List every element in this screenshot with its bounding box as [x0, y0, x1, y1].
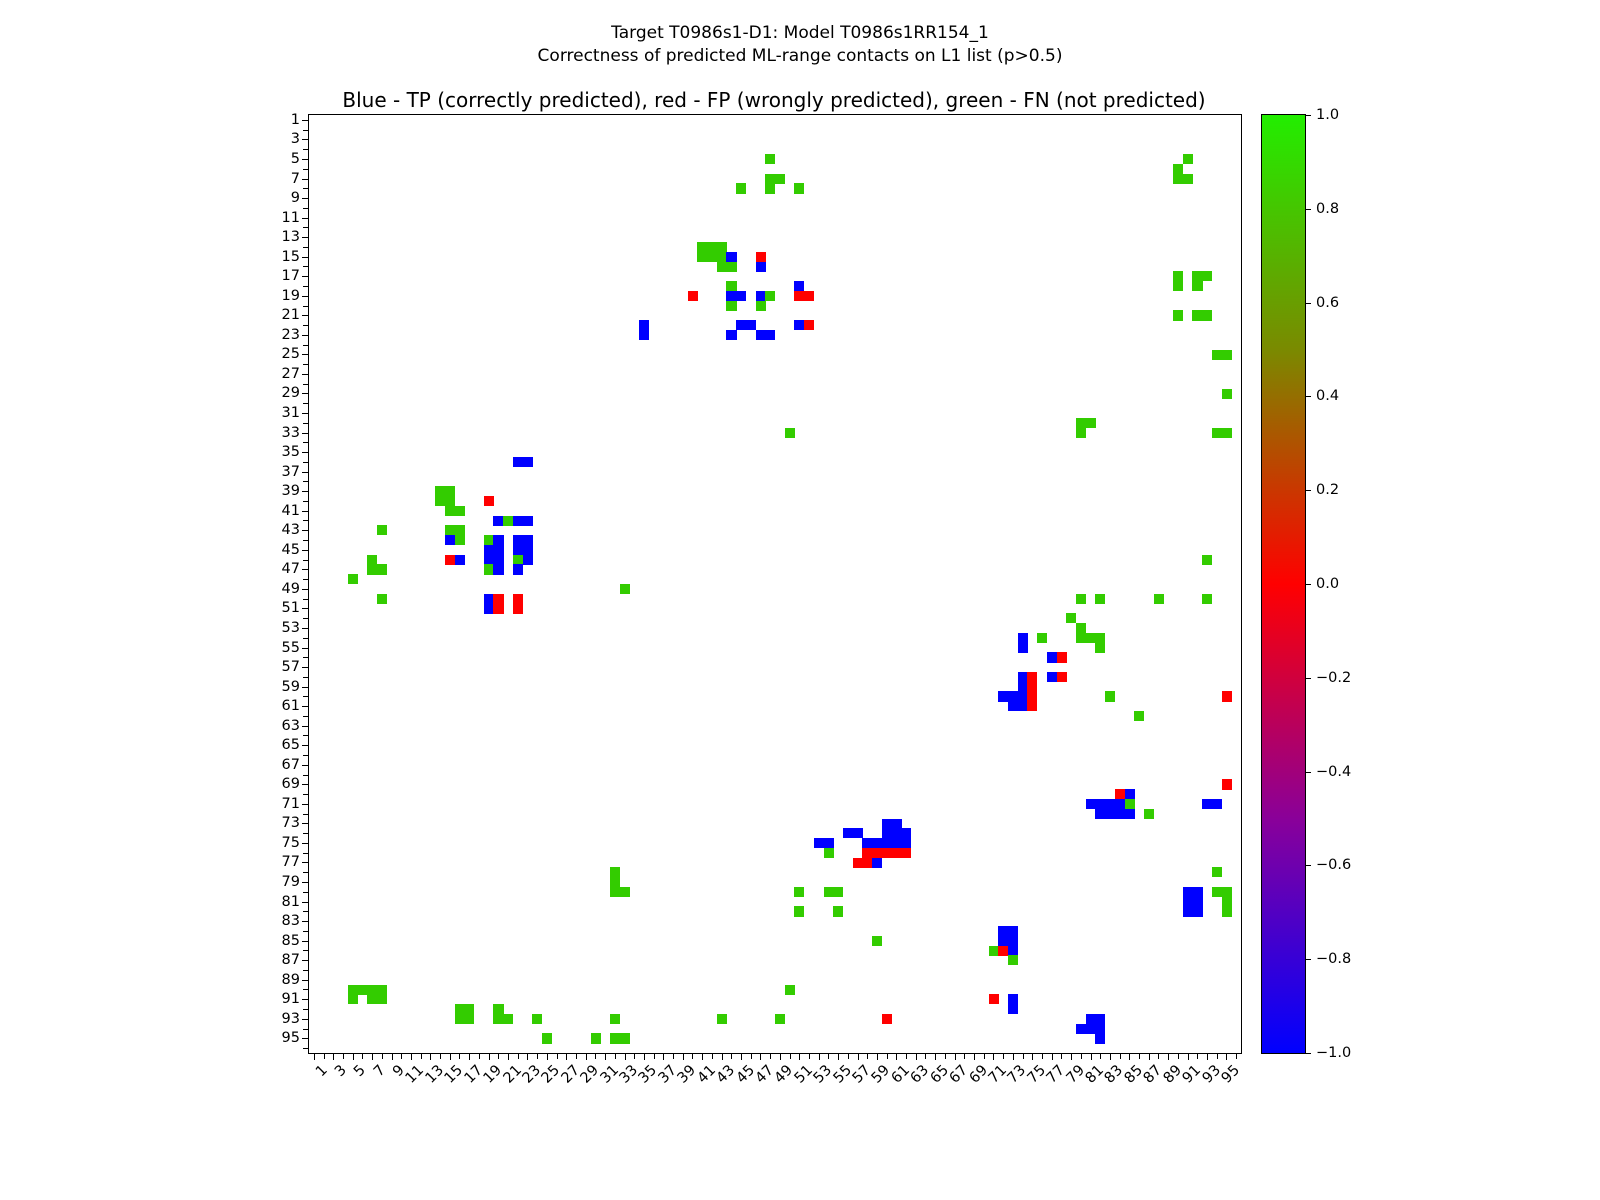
x-axis-tick — [1013, 1053, 1014, 1060]
x-axis-tick — [955, 1053, 956, 1060]
x-axis-tick-label: 5 — [352, 1063, 369, 1080]
contact-cell — [493, 1014, 503, 1024]
contact-cell — [756, 252, 766, 262]
contact-cell — [1115, 789, 1125, 799]
contact-cell — [455, 1014, 465, 1024]
contact-cell — [717, 242, 727, 252]
contact-cell — [726, 330, 736, 340]
contact-cell — [493, 555, 503, 565]
contact-cell — [882, 848, 892, 858]
contact-cell — [620, 584, 630, 594]
y-axis-tick — [302, 550, 309, 551]
y-axis-tick — [303, 872, 309, 873]
x-axis-tick — [1081, 1053, 1082, 1059]
x-axis-tick — [974, 1053, 975, 1060]
contact-cell — [1047, 652, 1057, 662]
contact-cell — [639, 320, 649, 330]
x-axis-tick — [925, 1053, 926, 1059]
x-axis-tick — [489, 1053, 490, 1060]
x-axis-tick — [566, 1053, 567, 1060]
contact-cell — [726, 291, 736, 301]
contact-map-axes: 1357911131517192123252729313335373941434… — [308, 114, 1242, 1054]
y-axis-tick-label: 31 — [282, 406, 300, 421]
contact-cell — [1222, 906, 1232, 916]
x-axis-tick — [459, 1053, 460, 1059]
y-axis-tick-label: 73 — [282, 816, 300, 831]
contact-cell — [1076, 428, 1086, 438]
y-axis-tick — [303, 853, 309, 854]
contact-cell — [532, 1014, 542, 1024]
x-axis-tick — [634, 1053, 635, 1059]
y-axis-tick-label: 51 — [282, 601, 300, 616]
contact-cell — [1018, 701, 1028, 711]
contact-cell — [736, 183, 746, 193]
y-axis-tick — [303, 794, 309, 795]
contact-cell — [1115, 799, 1125, 809]
x-axis-tick — [722, 1053, 723, 1060]
colorbar-tick-label: 0.2 — [1316, 483, 1339, 498]
y-axis-tick — [303, 1048, 309, 1049]
y-axis-tick — [302, 589, 309, 590]
contact-cell — [523, 555, 533, 565]
y-axis-tick — [302, 139, 309, 140]
contact-cell — [756, 330, 766, 340]
contact-cell — [1125, 799, 1135, 809]
y-axis-tick — [303, 286, 309, 287]
contact-cell — [1076, 594, 1086, 604]
contact-cell — [523, 545, 533, 555]
contact-cell — [814, 838, 824, 848]
contact-cell — [513, 604, 523, 614]
x-axis-tick — [450, 1053, 451, 1060]
y-axis-tick-label: 15 — [282, 249, 300, 264]
y-axis-tick — [302, 257, 309, 258]
contact-cell — [445, 555, 455, 565]
contact-cell — [765, 330, 775, 340]
y-axis-tick-label: 13 — [282, 230, 300, 245]
contact-map-cells — [309, 115, 1241, 1053]
y-axis-tick-label: 29 — [282, 386, 300, 401]
x-axis-tick — [314, 1053, 315, 1060]
x-axis-tick — [1129, 1053, 1130, 1060]
contact-cell — [794, 887, 804, 897]
contact-cell — [862, 838, 872, 848]
contact-cell — [1192, 887, 1202, 897]
contact-cell — [707, 242, 717, 252]
y-axis-tick — [302, 569, 309, 570]
x-axis-tick — [1207, 1053, 1208, 1060]
x-axis-tick — [887, 1053, 888, 1059]
contact-cell — [1222, 887, 1232, 897]
y-axis-tick-label: 7 — [291, 171, 300, 186]
contact-cell — [824, 838, 834, 848]
y-axis-tick — [302, 452, 309, 453]
x-axis-tick-label: 1 — [313, 1063, 330, 1080]
contact-cell — [726, 301, 736, 311]
y-axis-tick-label: 75 — [282, 836, 300, 851]
x-axis-tick — [1052, 1053, 1053, 1060]
contact-cell — [610, 867, 620, 877]
contact-cell — [1047, 672, 1057, 682]
contact-cell — [1222, 350, 1232, 360]
contact-cell — [872, 848, 882, 858]
contact-cell — [892, 828, 902, 838]
contact-cell — [503, 1014, 513, 1024]
x-axis-tick — [343, 1053, 344, 1059]
x-axis-tick — [518, 1053, 519, 1059]
y-axis-tick-label: 57 — [282, 660, 300, 675]
contact-cell — [882, 838, 892, 848]
contact-cell — [1076, 1024, 1086, 1034]
contact-cell — [1183, 887, 1193, 897]
y-axis-tick — [303, 481, 309, 482]
contact-cell — [503, 516, 513, 526]
colorbar-tick — [1305, 865, 1311, 866]
contact-cell — [892, 819, 902, 829]
contact-cell — [484, 594, 494, 604]
y-axis-tick — [303, 208, 309, 209]
y-axis-tick — [302, 179, 309, 180]
y-axis-tick-label: 69 — [282, 777, 300, 792]
y-axis-tick — [302, 296, 309, 297]
contact-cell — [775, 174, 785, 184]
contact-cell — [610, 887, 620, 897]
x-axis-tick — [858, 1053, 859, 1060]
contact-cell — [1222, 779, 1232, 789]
x-axis-tick — [984, 1053, 985, 1059]
contact-cell — [1202, 555, 1212, 565]
x-axis-tick — [469, 1053, 470, 1060]
x-axis-tick — [1120, 1053, 1121, 1059]
contact-cell — [794, 320, 804, 330]
contact-cell — [717, 252, 727, 262]
colorbar-tick — [1305, 959, 1311, 960]
contact-cell — [746, 320, 756, 330]
contact-cell — [1202, 799, 1212, 809]
chart-legend-annotation: Blue - TP (correctly predicted), red - F… — [308, 88, 1240, 112]
y-axis-tick — [303, 814, 309, 815]
x-axis-tick — [479, 1053, 480, 1059]
contact-cell — [1192, 897, 1202, 907]
contact-cell — [1095, 809, 1105, 819]
y-axis-tick-label: 83 — [282, 914, 300, 929]
contact-cell — [892, 848, 902, 858]
contact-cell — [1192, 281, 1202, 291]
y-axis-tick — [302, 159, 309, 160]
x-axis-tick — [421, 1053, 422, 1059]
contact-cell — [998, 691, 1008, 701]
y-axis-tick-label: 27 — [282, 367, 300, 382]
colorbar-tick-label: 0.0 — [1316, 577, 1339, 592]
contact-cell — [513, 545, 523, 555]
y-axis-tick — [303, 247, 309, 248]
contact-cell — [1086, 1024, 1096, 1034]
y-axis-tick — [303, 540, 309, 541]
x-axis-tick — [430, 1053, 431, 1060]
contact-cell — [717, 1014, 727, 1024]
contact-cell — [493, 604, 503, 614]
x-axis-tick — [498, 1053, 499, 1059]
contact-cell — [455, 555, 465, 565]
y-axis-tick-label: 11 — [282, 210, 300, 225]
y-axis-tick — [302, 491, 309, 492]
y-axis-tick — [302, 706, 309, 707]
contact-cell — [610, 877, 620, 887]
x-axis-tick — [353, 1053, 354, 1060]
contact-cell — [853, 858, 863, 868]
y-axis-tick-label: 87 — [282, 953, 300, 968]
contact-cell — [1154, 594, 1164, 604]
y-axis-tick — [303, 501, 309, 502]
contact-cell — [1095, 643, 1105, 653]
contact-cell — [513, 564, 523, 574]
contact-cell — [882, 819, 892, 829]
y-axis-tick — [303, 560, 309, 561]
y-axis-tick — [302, 745, 309, 746]
x-axis-tick — [586, 1053, 587, 1060]
contact-cell — [348, 574, 358, 584]
contact-cell — [1086, 418, 1096, 428]
contact-cell — [794, 281, 804, 291]
contact-cell — [445, 496, 455, 506]
contact-cell — [493, 564, 503, 574]
contact-cell — [1212, 887, 1222, 897]
y-axis-tick — [302, 237, 309, 238]
y-axis-tick — [302, 120, 309, 121]
contact-cell — [1086, 633, 1096, 643]
y-axis-tick-label: 89 — [282, 972, 300, 987]
colorbar-tick — [1305, 678, 1311, 679]
contact-cell — [1008, 926, 1018, 936]
y-axis-tick — [302, 393, 309, 394]
contact-cell — [1095, 1014, 1105, 1024]
x-axis-tick — [896, 1053, 897, 1060]
y-axis-tick — [302, 804, 309, 805]
colorbar-tick-label: −0.6 — [1316, 858, 1351, 873]
colorbar-tick — [1305, 303, 1311, 304]
contact-cell — [1202, 310, 1212, 320]
y-axis-tick-label: 37 — [282, 464, 300, 479]
x-axis-tick — [1188, 1053, 1189, 1060]
y-axis-tick-label: 55 — [282, 640, 300, 655]
contact-cell — [1183, 174, 1193, 184]
x-axis-tick — [663, 1053, 664, 1060]
contact-cell — [872, 838, 882, 848]
chart-subtitle: Correctness of predicted ML-range contac… — [0, 45, 1600, 68]
contact-cell — [717, 262, 727, 272]
contact-cell — [348, 994, 358, 1004]
contact-cell — [998, 946, 1008, 956]
colorbar: 1.00.80.60.40.20.0−0.2−0.4−0.6−0.8−1.0 — [1261, 114, 1306, 1054]
contact-cell — [1066, 613, 1076, 623]
y-axis-tick — [303, 677, 309, 678]
x-axis-tick — [916, 1053, 917, 1060]
y-axis-tick — [303, 833, 309, 834]
contact-cell — [833, 887, 843, 897]
x-axis-tick — [993, 1053, 994, 1060]
contact-cell — [882, 828, 892, 838]
contact-cell — [843, 828, 853, 838]
x-axis-tick — [819, 1053, 820, 1060]
contact-cell — [377, 985, 387, 995]
x-axis-tick — [557, 1053, 558, 1059]
contact-cell — [1173, 271, 1183, 281]
x-axis-tick — [712, 1053, 713, 1059]
contact-cell — [901, 848, 911, 858]
contact-cell — [1057, 672, 1067, 682]
x-axis-tick — [1100, 1053, 1101, 1059]
colorbar-tick — [1305, 584, 1311, 585]
contact-cell — [620, 1033, 630, 1043]
contact-cell — [367, 994, 377, 1004]
contact-cell — [901, 828, 911, 838]
y-axis-tick-label: 53 — [282, 621, 300, 636]
colorbar-tick — [1305, 115, 1311, 116]
contact-cell — [1008, 955, 1018, 965]
contact-cell — [736, 320, 746, 330]
contact-cell — [853, 828, 863, 838]
contact-cell — [1027, 691, 1037, 701]
x-axis-tick — [576, 1053, 577, 1059]
y-axis-tick-label: 1 — [291, 113, 300, 128]
y-axis-tick — [302, 843, 309, 844]
contact-cell — [435, 496, 445, 506]
y-axis-tick — [302, 315, 309, 316]
y-axis-tick — [303, 931, 309, 932]
y-axis-tick — [303, 384, 309, 385]
contact-cell — [862, 848, 872, 858]
contact-cell — [882, 1014, 892, 1024]
colorbar-tick — [1305, 209, 1311, 210]
contact-cell — [1027, 672, 1037, 682]
x-axis-tick — [751, 1053, 752, 1059]
y-axis-tick — [303, 716, 309, 717]
x-axis-tick — [1032, 1053, 1033, 1060]
y-axis-tick — [302, 530, 309, 531]
y-axis-tick — [303, 657, 309, 658]
contact-cell — [872, 858, 882, 868]
contact-cell — [493, 545, 503, 555]
colorbar-tick-label: −1.0 — [1316, 1046, 1351, 1061]
y-axis-tick-label: 19 — [282, 289, 300, 304]
contact-cell — [367, 564, 377, 574]
y-axis-tick — [302, 1019, 309, 1020]
y-axis-tick-label: 41 — [282, 503, 300, 518]
x-axis-tick — [770, 1053, 771, 1059]
x-axis-tick — [625, 1053, 626, 1060]
contact-cell — [639, 330, 649, 340]
contact-cell — [1173, 281, 1183, 291]
contact-cell — [445, 535, 455, 545]
contact-cell — [377, 594, 387, 604]
contact-cell — [1086, 799, 1096, 809]
y-axis-tick — [303, 169, 309, 170]
contact-cell — [1027, 701, 1037, 711]
y-axis-tick-label: 79 — [282, 875, 300, 890]
contact-cell — [1076, 623, 1086, 633]
x-axis-tick — [848, 1053, 849, 1059]
contact-cell — [610, 1014, 620, 1024]
contact-cell — [1008, 994, 1018, 1004]
y-axis-tick — [303, 423, 309, 424]
y-axis-tick — [302, 921, 309, 922]
x-axis-tick — [673, 1053, 674, 1059]
x-axis-tick — [760, 1053, 761, 1060]
contact-cell — [804, 320, 814, 330]
contact-cell — [1105, 691, 1115, 701]
contact-cell — [765, 183, 775, 193]
contact-cell — [998, 926, 1008, 936]
contact-cell — [833, 906, 843, 916]
contact-cell — [523, 516, 533, 526]
contact-cell — [1183, 154, 1193, 164]
y-axis-tick — [303, 325, 309, 326]
contact-cell — [794, 291, 804, 301]
y-axis-tick — [303, 306, 309, 307]
contact-cell — [1173, 310, 1183, 320]
contact-cell — [756, 291, 766, 301]
y-axis-tick — [302, 687, 309, 688]
y-axis-tick — [303, 638, 309, 639]
contact-cell — [765, 291, 775, 301]
contact-cell — [435, 486, 445, 496]
contact-cell — [1008, 936, 1018, 946]
contact-cell — [513, 594, 523, 604]
x-axis-tick — [1149, 1053, 1150, 1060]
y-axis-tick — [303, 149, 309, 150]
x-axis-tick — [527, 1053, 528, 1060]
x-axis-tick — [1042, 1053, 1043, 1059]
y-axis-tick — [302, 862, 309, 863]
contact-cell — [1018, 682, 1028, 692]
contact-cell — [1018, 672, 1028, 682]
contact-cell — [1202, 271, 1212, 281]
colorbar-tick — [1305, 1053, 1311, 1054]
contact-cell — [1076, 418, 1086, 428]
x-axis-tick-label: 3 — [333, 1063, 350, 1080]
contact-cell — [765, 154, 775, 164]
x-axis-tick — [372, 1053, 373, 1060]
contact-cell — [862, 858, 872, 868]
contact-cell — [1125, 809, 1135, 819]
y-axis-tick — [303, 364, 309, 365]
contact-cell — [1134, 711, 1144, 721]
contact-cell — [775, 1014, 785, 1024]
x-axis-tick — [595, 1053, 596, 1059]
x-axis-tick — [605, 1053, 606, 1060]
y-axis-tick-label: 5 — [291, 152, 300, 167]
contact-cell — [726, 281, 736, 291]
contact-cell — [785, 428, 795, 438]
x-axis-tick — [1197, 1053, 1198, 1059]
contact-cell — [493, 535, 503, 545]
contact-cell — [1008, 946, 1018, 956]
y-axis-tick — [302, 472, 309, 473]
y-axis-tick-label: 17 — [282, 269, 300, 284]
contact-cell — [765, 174, 775, 184]
y-axis-tick — [302, 765, 309, 766]
contact-cell — [824, 887, 834, 897]
y-axis-tick-label: 71 — [282, 797, 300, 812]
contact-cell — [1183, 897, 1193, 907]
contact-cell — [484, 535, 494, 545]
y-axis-tick — [302, 999, 309, 1000]
contact-cell — [348, 985, 358, 995]
y-axis-tick — [302, 941, 309, 942]
y-axis-tick-label: 33 — [282, 425, 300, 440]
y-axis-tick — [302, 902, 309, 903]
contact-cell — [513, 535, 523, 545]
